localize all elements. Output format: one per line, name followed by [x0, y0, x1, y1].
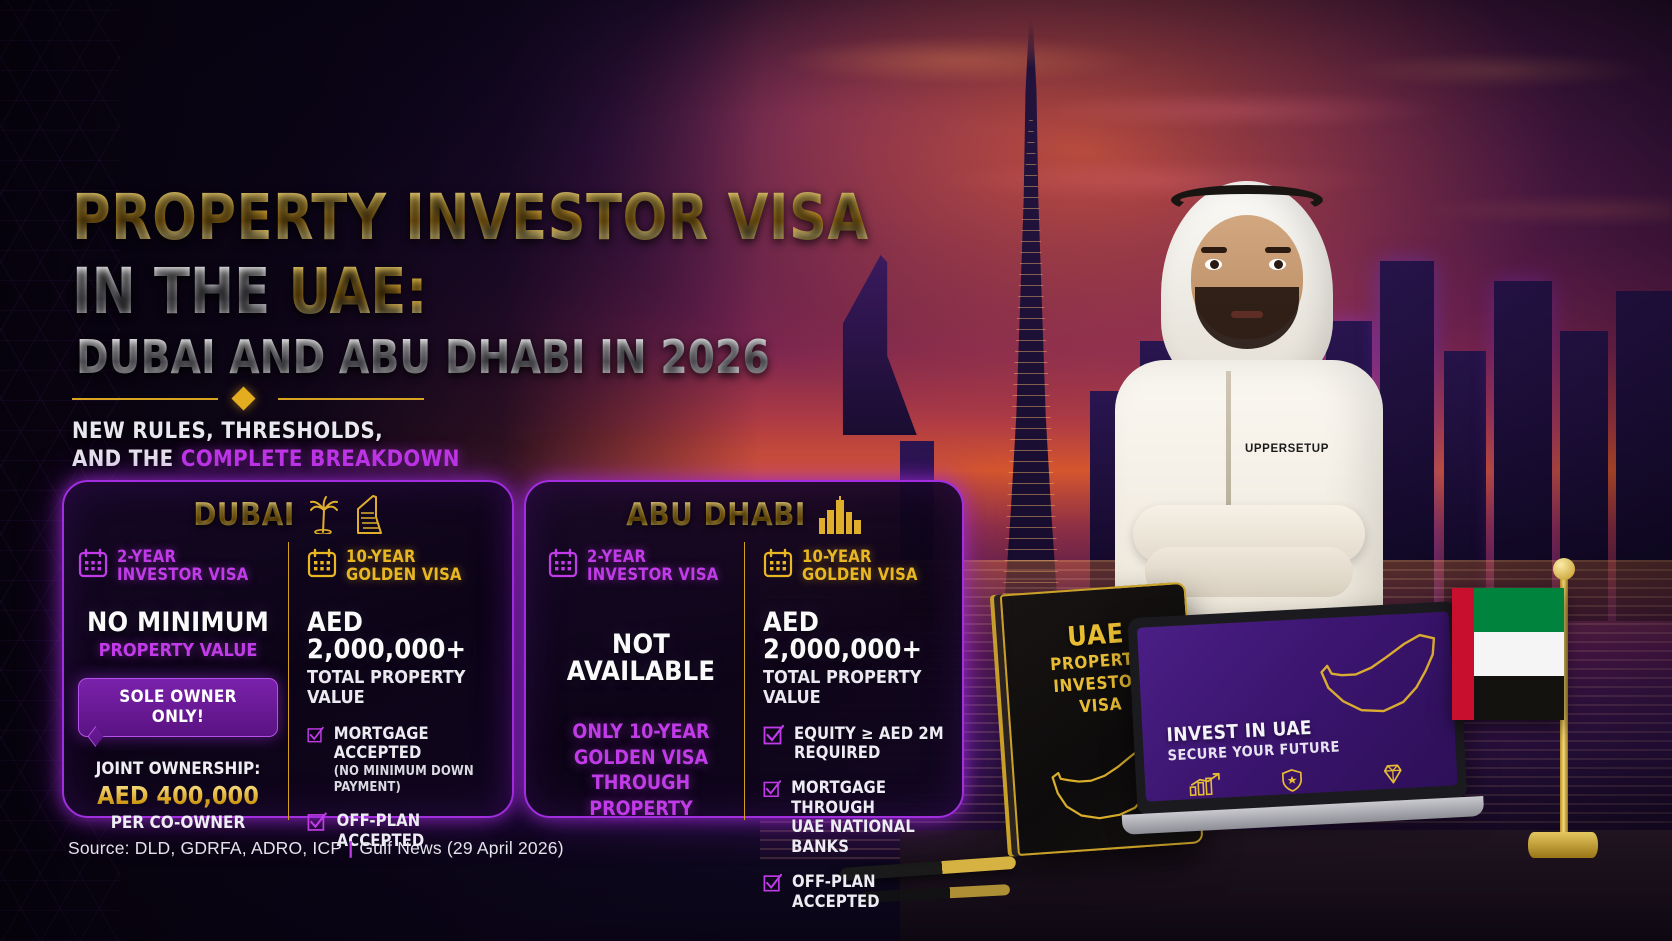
card-dubai-columns: 2-YEAR INVESTOR VISA NO MINIMUM PROPERTY… — [64, 542, 512, 820]
dubai-check-mortgage-label: MORTGAGE ACCEPTED — [334, 724, 429, 762]
dubai-joint-label: JOINT OWNERSHIP: — [96, 759, 261, 779]
calendar-icon — [78, 548, 108, 578]
abu-check-mortgage-label: MORTGAGE THROUGH — [791, 778, 886, 816]
abu-note-line3: THROUGH PROPERTY — [589, 771, 692, 820]
abu-check-equity-text: EQUITY ≥ AED 2M REQUIRED — [794, 724, 944, 763]
dubai-aed-threshold: AED 2,000,000+ — [307, 609, 502, 663]
abu-check-mortgage-text: MORTGAGE THROUGH UAE NATIONAL BANKS — [791, 778, 952, 856]
abu-total-property-value: TOTAL PROPERTY VALUE — [763, 668, 952, 708]
dubai-2year-line1: 2-YEAR — [117, 547, 176, 566]
dubai-joint-ownership: JOINT OWNERSHIP: AED 400,000 PER CO-OWNE… — [78, 759, 278, 834]
dubai-investor-visa-column: 2-YEAR INVESTOR VISA NO MINIMUM PROPERTY… — [64, 542, 288, 820]
calendar-icon — [548, 548, 578, 578]
dubai-check-mortgage: MORTGAGE ACCEPTED (NO MINIMUM DOWN PAYME… — [307, 724, 502, 796]
title-uae: UAE: — [288, 255, 427, 328]
abu-aed-threshold: AED 2,000,000+ — [763, 609, 952, 663]
abu-investor-visa-column: 2-YEAR INVESTOR VISA NOT AVAILABLE ONLY … — [526, 542, 744, 820]
palm-tree-icon — [307, 496, 341, 534]
source-text: Source: DLD, GDRFA, ADRO, ICP — [68, 838, 342, 858]
dubai-10year-label: 10-YEAR GOLDEN VISA — [346, 548, 462, 585]
abu-10year-line2: GOLDEN VISA — [802, 565, 918, 584]
abu-check-equity: EQUITY ≥ AED 2M REQUIRED — [763, 724, 952, 763]
dubai-check-mortgage-text: MORTGAGE ACCEPTED (NO MINIMUM DOWN PAYME… — [334, 724, 502, 796]
calendar-icon — [763, 548, 793, 578]
divider-line-left — [72, 398, 218, 400]
abu-check-offplan: OFF-PLAN ACCEPTED — [763, 872, 952, 911]
checkbox-checked-icon — [763, 778, 781, 799]
source-credit: Gulf News (29 April 2026) — [359, 838, 563, 858]
skyline-icon — [818, 496, 862, 534]
card-abu-dhabi-city-name: ABU DHABI — [626, 497, 805, 533]
abu-check-mortgage: MORTGAGE THROUGH UAE NATIONAL BANKS — [763, 778, 952, 856]
abu-left-body: NOT AVAILABLE ONLY 10-YEAR GOLDEN VISA T… — [548, 631, 734, 822]
abu-2year-line1: 2-YEAR — [587, 547, 646, 566]
title-in-the: IN THE — [72, 255, 288, 328]
dubai-10year-line1: 10-YEAR — [346, 547, 416, 566]
card-abu-dhabi-header: ABU DHABI — [526, 488, 962, 542]
calendar-icon — [307, 548, 337, 578]
abu-10year-label: 10-YEAR GOLDEN VISA — [802, 548, 918, 585]
divider-diamond-icon — [231, 386, 255, 410]
dubai-golden-visa-column: 10-YEAR GOLDEN VISA AED 2,000,000+ TOTAL… — [288, 542, 512, 820]
dubai-right-body: AED 2,000,000+ TOTAL PROPERTY VALUE MORT… — [307, 609, 502, 850]
subtitle: NEW RULES, THRESHOLDS, AND THE COMPLETE … — [72, 418, 460, 474]
dubai-2year-label: 2-YEAR INVESTOR VISA — [117, 548, 248, 585]
abu-check-offplan-text: OFF-PLAN ACCEPTED — [792, 872, 952, 911]
card-dubai-city-name: DUBAI — [193, 497, 295, 533]
source-separator: | — [342, 838, 359, 858]
gold-divider — [72, 386, 424, 412]
abu-10year-line1: 10-YEAR — [802, 547, 872, 566]
abu-check-mortgage-note: UAE NATIONAL BANKS — [791, 817, 952, 856]
dubai-no-minimum-headline: NO MINIMUM — [78, 609, 278, 636]
dubai-total-property-value: TOTAL PROPERTY VALUE — [307, 668, 502, 708]
abu-check-equity-label: EQUITY ≥ AED 2M — [794, 724, 944, 743]
abu-2year-line2: INVESTOR VISA — [587, 565, 718, 584]
subtitle-line-2-prefix: AND THE — [72, 447, 181, 472]
divider-line-right — [278, 398, 424, 400]
abu-note-line2: GOLDEN VISA — [574, 746, 708, 769]
abu-not-available-headline: NOT AVAILABLE — [548, 631, 734, 685]
dubai-check-mortgage-note: (NO MINIMUM DOWN PAYMENT) — [334, 764, 502, 795]
checkbox-checked-icon — [307, 724, 324, 745]
abu-note-line1: ONLY 10-YEAR — [572, 720, 709, 743]
abu-golden-visa-column: 10-YEAR GOLDEN VISA AED 2,000,000+ TOTAL… — [744, 542, 962, 820]
dubai-joint-note: PER CO-OWNER — [111, 813, 246, 833]
dubai-10year-head: 10-YEAR GOLDEN VISA — [307, 548, 502, 585]
abu-2year-label: 2-YEAR INVESTOR VISA — [587, 548, 718, 585]
page-title-line-1: PROPERTY INVESTOR VISA — [72, 186, 869, 249]
card-dubai-header: DUBAI — [64, 488, 512, 542]
dubai-sole-owner-pill[interactable]: SOLE OWNER ONLY! — [78, 678, 278, 737]
dubai-2year-head: 2-YEAR INVESTOR VISA — [78, 548, 278, 585]
source-line: Source: DLD, GDRFA, ADRO, ICP|Gulf News … — [68, 838, 564, 859]
burj-al-arab-icon — [353, 495, 383, 535]
dubai-joint-amount: AED 400,000 — [78, 781, 278, 812]
checkbox-checked-icon — [763, 724, 784, 745]
page-title-line-2: IN THE UAE: — [72, 260, 427, 323]
abu-right-body: AED 2,000,000+ TOTAL PROPERTY VALUE EQUI… — [763, 609, 952, 911]
subtitle-line-2-highlight: COMPLETE BREAKDOWN — [181, 447, 460, 472]
infographic-canvas: UPPERSETUP UAE PROPERTY INVESTOR VISA IN… — [0, 0, 1672, 941]
card-abu-dhabi-columns: 2-YEAR INVESTOR VISA NOT AVAILABLE ONLY … — [526, 542, 962, 820]
checkbox-checked-icon — [763, 872, 782, 893]
card-abu-dhabi[interactable]: ABU DHABI — [524, 480, 964, 818]
abu-10year-head: 10-YEAR GOLDEN VISA — [763, 548, 952, 585]
abu-2year-head: 2-YEAR INVESTOR VISA — [548, 548, 734, 585]
subtitle-line-1: NEW RULES, THRESHOLDS, — [72, 419, 383, 444]
dubai-left-body: NO MINIMUM PROPERTY VALUE SOLE OWNER ONL… — [78, 609, 278, 834]
dubai-property-value-sub: PROPERTY VALUE — [78, 641, 278, 661]
abu-check-equity-note: REQUIRED — [794, 743, 944, 762]
dubai-2year-line2: INVESTOR VISA — [117, 565, 248, 584]
dubai-10year-line2: GOLDEN VISA — [346, 565, 462, 584]
card-dubai[interactable]: DUBAI — [62, 480, 514, 818]
page-title-line-3: DUBAI AND ABU DHABI IN 2026 — [76, 334, 770, 380]
abu-golden-visa-note: ONLY 10-YEAR GOLDEN VISA THROUGH PROPERT… — [548, 719, 734, 822]
checkbox-checked-icon — [307, 811, 327, 832]
